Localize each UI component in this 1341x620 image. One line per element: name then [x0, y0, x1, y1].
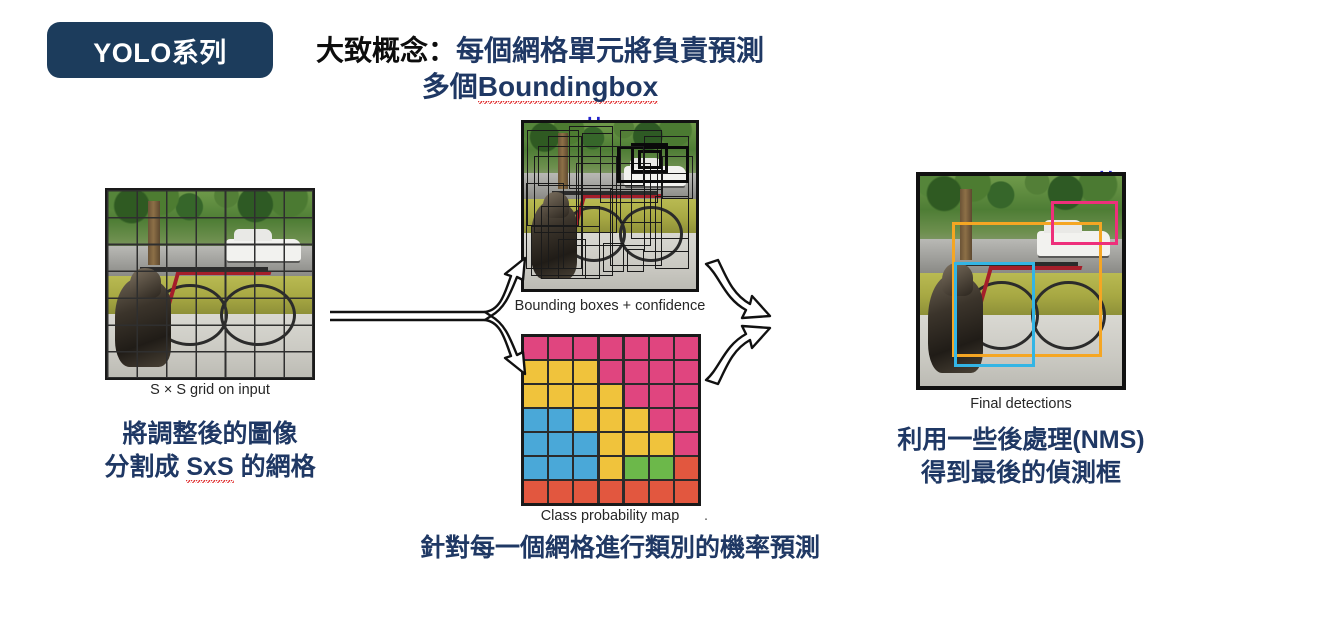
class-prob-cell-6-4 — [600, 457, 623, 479]
final-caption-line-2: 得到最後的偵測框 — [856, 457, 1186, 490]
car-box — [1051, 201, 1118, 245]
yolo-series-badge: YOLO系列 — [47, 22, 273, 78]
class-prob-cell-1-7 — [675, 337, 698, 359]
class-prob-cell-3-4 — [600, 385, 623, 407]
class-prob-cell-2-1 — [524, 361, 547, 383]
image-dog — [115, 278, 171, 366]
badge-label: YOLO系列 — [93, 31, 227, 70]
class-prob-cell-5-7 — [675, 433, 698, 455]
grid-caption-misspelled-word: SxS — [186, 453, 233, 483]
class-prob-cell-5-2 — [549, 433, 572, 455]
class-prob-cell-1-1 — [524, 337, 547, 359]
class-prob-cell-2-7 — [675, 361, 698, 383]
class-prob-cell-2-5 — [625, 361, 648, 383]
class-prob-cell-6-2 — [549, 457, 572, 479]
image-bicycle-frame — [161, 271, 271, 324]
candidate-box — [538, 146, 645, 186]
class-prob-cell-3-6 — [650, 385, 673, 407]
dog-box — [954, 262, 1035, 367]
page-title: 大致概念：每個網格單元將負責預測 多個Boundingbox — [290, 33, 790, 105]
bounding-boxes-caption: Bounding boxes + confidence — [506, 298, 714, 314]
final-detections-caption-cn: 利用一些後處理(NMS) 得到最後的偵測框 — [856, 424, 1186, 489]
class-prob-cell-5-1 — [524, 433, 547, 455]
slide-canvas: YOLO系列 大致概念：每個網格單元將負責預測 多個Boundingbox S … — [0, 0, 1341, 620]
grid-caption-line2-suffix: 的網格 — [234, 453, 316, 481]
title-line-2: 多個Boundingbox — [290, 69, 790, 105]
class-prob-cell-1-4 — [600, 337, 623, 359]
class-prob-cell-6-1 — [524, 457, 547, 479]
class-prob-cell-7-2 — [549, 481, 572, 503]
class-prob-cell-4-3 — [574, 409, 597, 431]
class-prob-cell-4-5 — [625, 409, 648, 431]
candidate-box — [627, 249, 644, 272]
class-prob-cell-3-5 — [625, 385, 648, 407]
class-prob-cell-4-4 — [600, 409, 623, 431]
arrow-down-head — [485, 316, 525, 374]
candidate-box — [558, 239, 586, 279]
image-bicycle-handlebar — [140, 267, 268, 271]
bottom-caption: 針對每一個網格進行類別的機率預測 — [370, 532, 870, 565]
class-prob-cell-6-3 — [574, 457, 597, 479]
detection-boxes-layer — [920, 176, 1122, 386]
class-prob-cell-7-1 — [524, 481, 547, 503]
class-prob-cell-3-3 — [574, 385, 597, 407]
title-highlight: 每個網格單元將負責預測 — [456, 35, 764, 66]
class-probability-grid — [521, 334, 701, 506]
bounding-boxes-image — [521, 120, 699, 292]
class-prob-cell-2-4 — [600, 361, 623, 383]
split-arrow-connector — [325, 250, 545, 390]
class-prob-cell-2-6 — [650, 361, 673, 383]
class-prob-cell-3-1 — [524, 385, 547, 407]
candidate-box — [655, 196, 689, 269]
grid-input-caption-en: S × S grid on input — [105, 382, 315, 398]
class-probability-trailing-mark: . — [700, 508, 712, 524]
class-probability-panel — [521, 334, 701, 506]
class-prob-cell-5-6 — [650, 433, 673, 455]
class-prob-cell-7-4 — [600, 481, 623, 503]
class-probability-caption: Class probability map — [506, 508, 714, 524]
class-prob-cell-5-3 — [574, 433, 597, 455]
class-prob-cell-6-6 — [650, 457, 673, 479]
class-prob-cell-4-2 — [549, 409, 572, 431]
grid-input-caption-cn: 將調整後的圖像 分割成 SxS 的網格 — [55, 418, 365, 483]
class-prob-cell-2-2 — [549, 361, 572, 383]
title-misspelled-word: Boundingbox — [478, 71, 658, 104]
class-prob-cell-5-5 — [625, 433, 648, 455]
final-caption-line-1: 利用一些後處理(NMS) — [856, 424, 1186, 457]
class-prob-cell-2-3 — [574, 361, 597, 383]
class-prob-cell-7-6 — [650, 481, 673, 503]
class-prob-cell-4-1 — [524, 409, 547, 431]
arrow-from-boxes — [706, 260, 770, 318]
class-prob-cell-7-7 — [675, 481, 698, 503]
grid-caption-line-2: 分割成 SxS 的網格 — [55, 451, 365, 484]
grid-caption-line2-prefix: 分割成 — [104, 453, 186, 481]
grid-caption-line-1: 將調整後的圖像 — [55, 418, 365, 451]
title-line2-prefix: 多個 — [422, 71, 478, 102]
bounding-boxes-panel — [521, 120, 699, 292]
image-tree-trunk — [148, 201, 159, 265]
class-prob-cell-1-5 — [625, 337, 648, 359]
class-prob-cell-5-4 — [600, 433, 623, 455]
class-prob-cell-1-6 — [650, 337, 673, 359]
merge-arrow-connector — [694, 252, 824, 392]
class-prob-cell-6-7 — [675, 457, 698, 479]
class-prob-cell-7-5 — [625, 481, 648, 503]
arrow-from-probability-map — [706, 326, 770, 384]
grid-input-image — [105, 188, 315, 380]
class-prob-cell-6-5 — [625, 457, 648, 479]
final-detections-panel — [916, 172, 1126, 390]
final-detections-caption: Final detections — [916, 396, 1126, 412]
grid-input-panel — [105, 188, 315, 380]
class-prob-cell-4-6 — [650, 409, 673, 431]
title-line-1: 大致概念：每個網格單元將負責預測 — [290, 33, 790, 69]
image-foliage — [107, 190, 313, 246]
class-prob-cell-1-3 — [574, 337, 597, 359]
bottom-caption-text: 針對每一個網格進行類別的機率預測 — [370, 532, 870, 565]
class-prob-cell-4-7 — [675, 409, 698, 431]
candidate-box — [603, 243, 624, 273]
class-prob-cell-7-3 — [574, 481, 597, 503]
final-detections-image — [916, 172, 1126, 390]
image-car — [226, 239, 300, 262]
class-prob-cell-3-2 — [549, 385, 572, 407]
title-prefix: 大致概念： — [316, 35, 456, 66]
class-prob-cell-3-7 — [675, 385, 698, 407]
class-prob-cell-1-2 — [549, 337, 572, 359]
